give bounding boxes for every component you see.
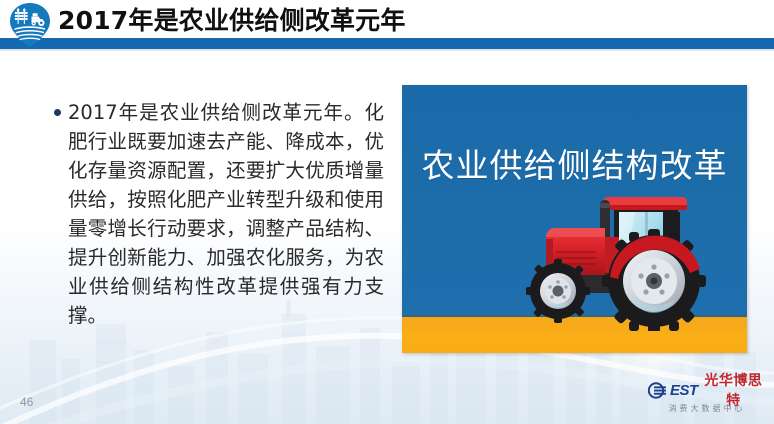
corporate-logo-main: EST 光华博思特 [648,379,766,401]
corporate-logo-latin: EST [670,382,698,399]
corporate-logo: EST 光华博思特 消费大数据中心 [648,379,766,419]
page-title: 2017年是农业供给侧改革元年 [58,4,406,38]
best-circle-icon [648,382,667,399]
header-accent-bar [0,38,774,49]
bullet-paragraph: 2017年是农业供给侧改革元年。化肥行业既要加速去产能、降成本，优化存量资源配置… [68,98,384,330]
illustration-caption: 农业供给侧结构改革 [402,147,747,185]
header-shadow-rule [0,49,774,51]
agriculture-pin-icon [6,2,54,48]
illustration-panel: 农业供给侧结构改革 [402,85,747,353]
bullet-list-item: 2017年是农业供给侧改革元年。化肥行业既要加速去产能、降成本，优化存量资源配置… [54,98,384,330]
presentation-slide: 2017年是农业供给侧改革元年 2017年是农业供给侧改革元年。化肥行业既要加速… [0,0,774,424]
page-number: 46 [20,395,33,409]
body-content: 2017年是农业供给侧改革元年。化肥行业既要加速去产能、降成本，优化存量资源配置… [54,98,384,330]
bullet-dot-icon [54,109,61,116]
red-tractor-icon [488,181,720,331]
